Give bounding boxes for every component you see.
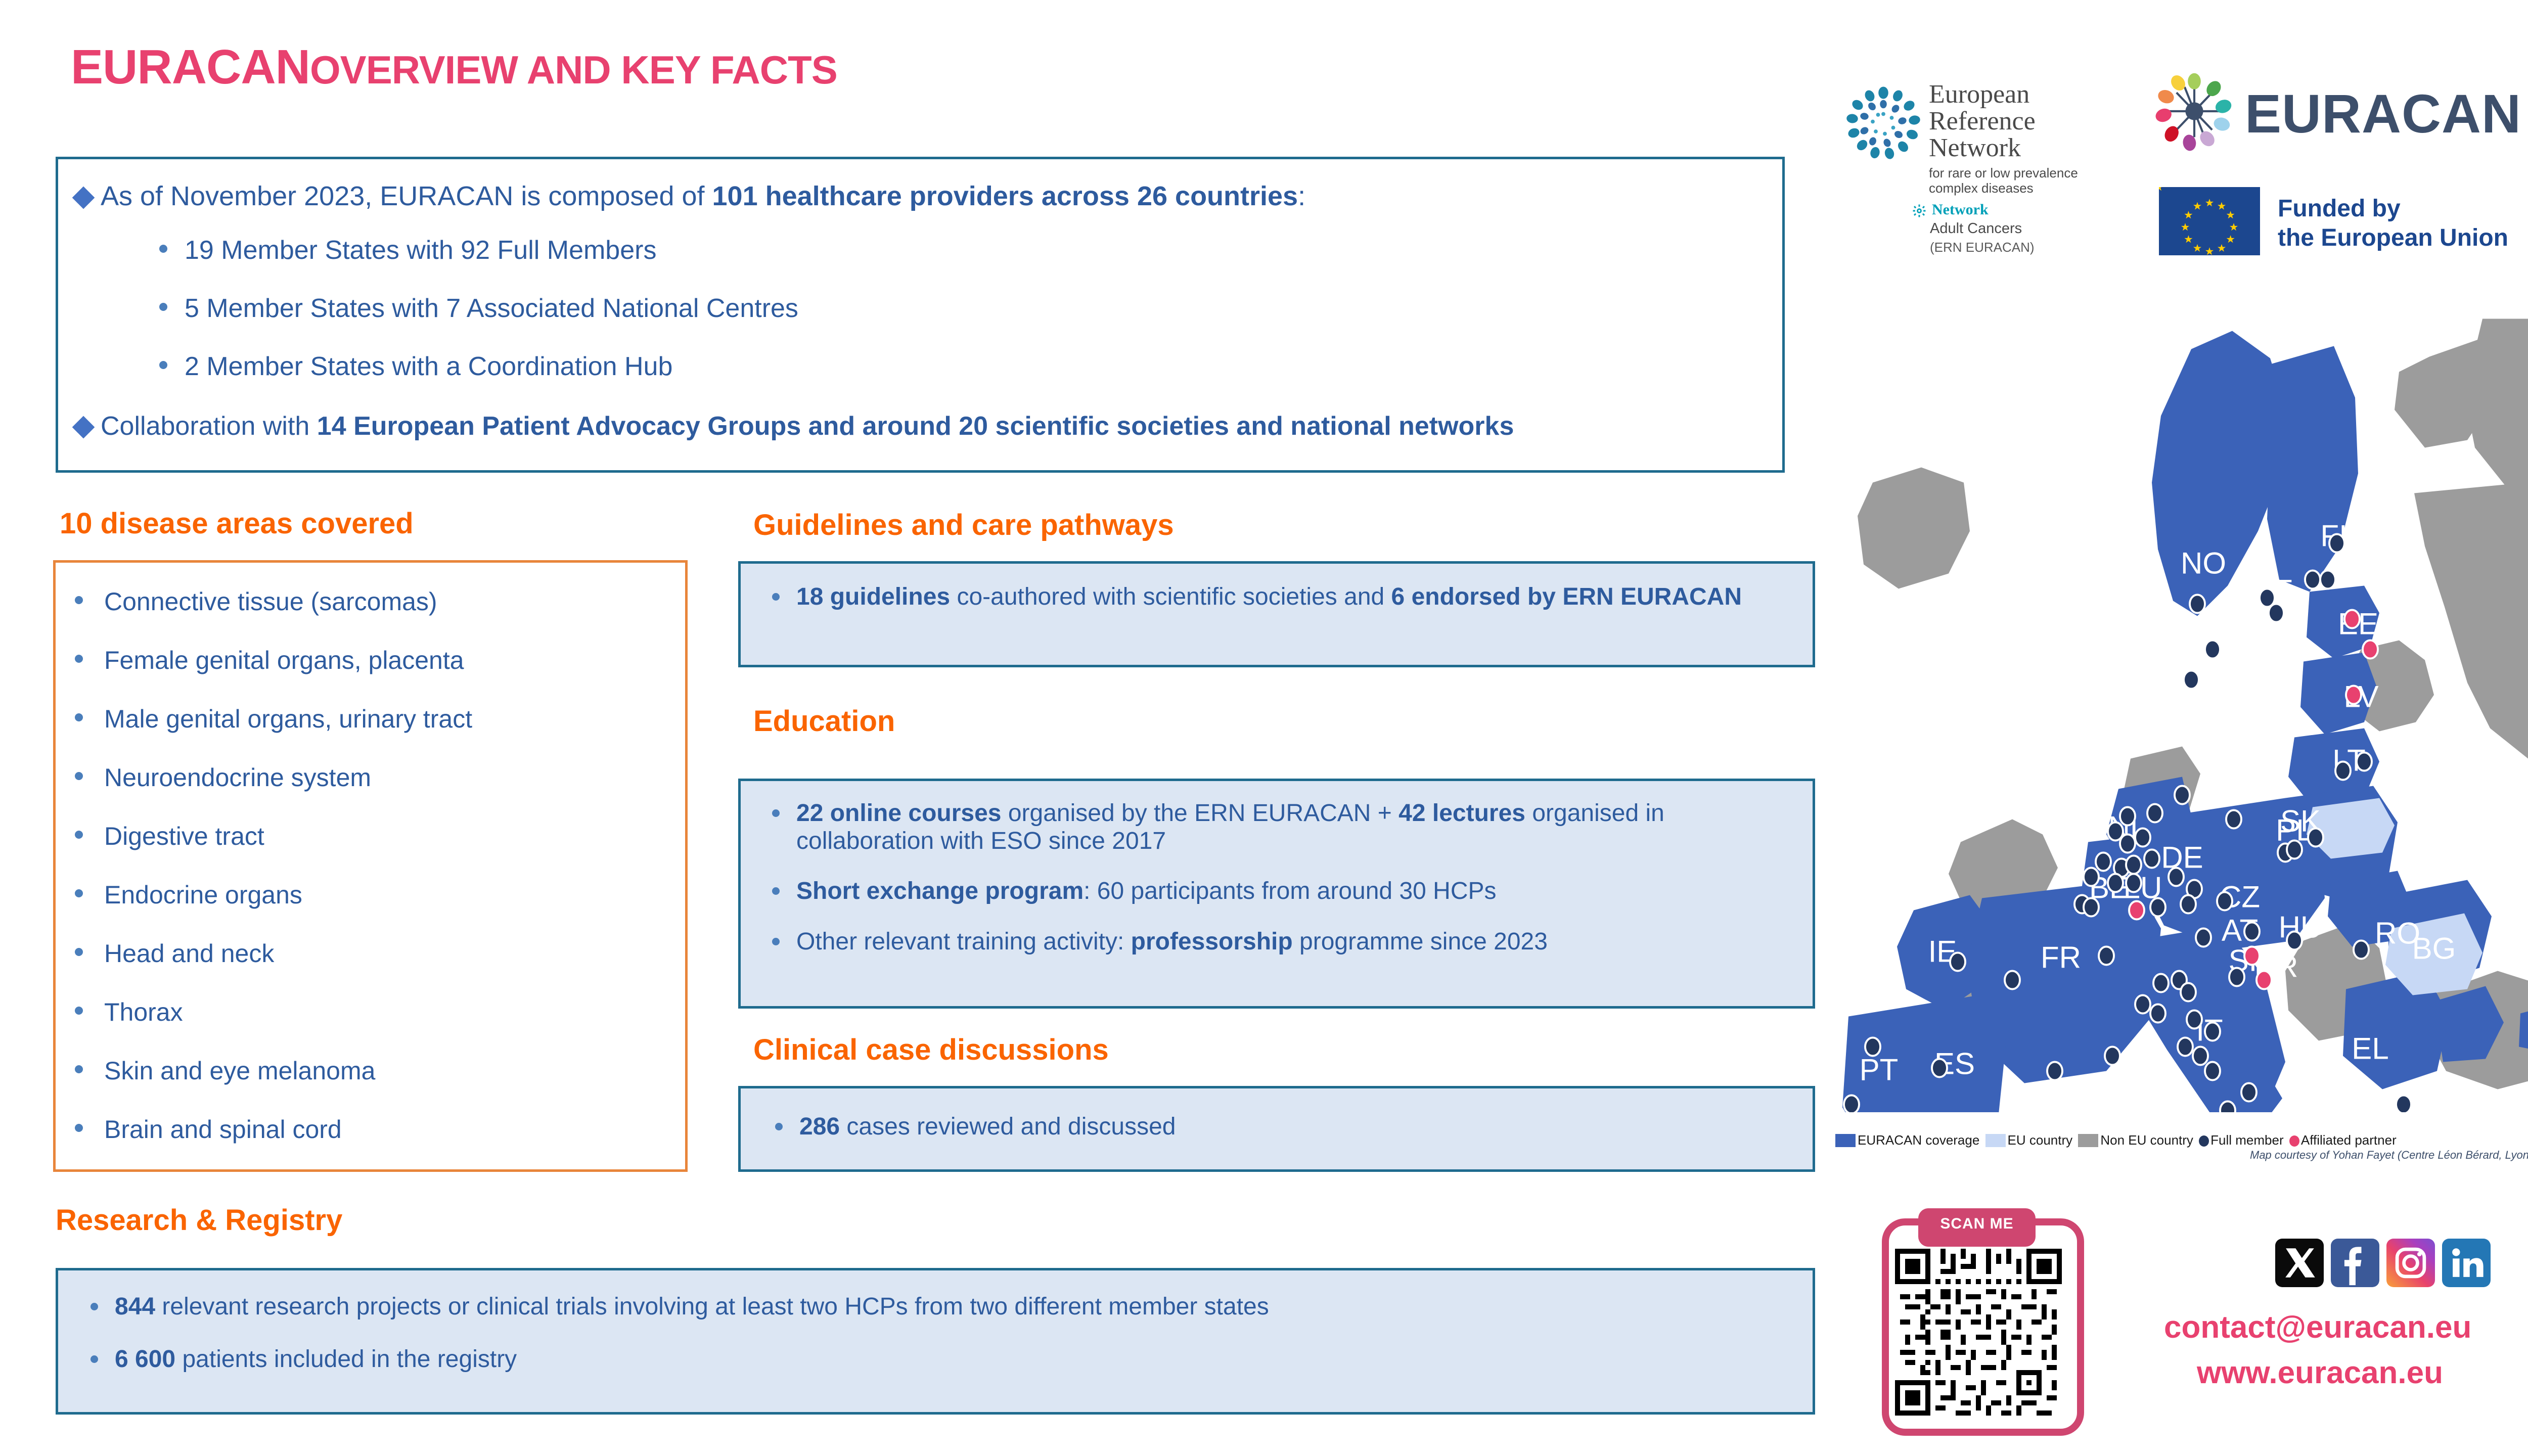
svg-text:BG: BG bbox=[2412, 932, 2456, 966]
bullet-dot-icon bbox=[75, 655, 83, 663]
summary-sub-item: 5 Member States with 7 Associated Nation… bbox=[159, 293, 798, 324]
education-bullet: 22 online courses organised by the ERN E… bbox=[796, 799, 1797, 855]
bullet-dot-icon bbox=[75, 831, 83, 839]
legend-swatch-non-eu-icon bbox=[2078, 1134, 2098, 1147]
eu-flag-icon bbox=[2159, 187, 2260, 255]
summary-line1-pre: As of November 2023, EURACAN is composed… bbox=[101, 181, 712, 211]
disease-item-label: Endocrine organs bbox=[104, 881, 302, 909]
europe-coverage-map: NO SE FI EE LV LT IE DK NL BE LU DE PL C… bbox=[1830, 303, 2528, 1112]
bullet-dot-icon bbox=[91, 1303, 98, 1310]
disease-item-label: Head and neck bbox=[104, 939, 274, 968]
logo-row: European Reference Network for rare or l… bbox=[1845, 71, 2528, 283]
bullet-dot-icon bbox=[775, 1123, 783, 1130]
bullet-dot-icon bbox=[159, 245, 167, 253]
ern-name-line-2: Reference bbox=[1929, 108, 2036, 134]
bullet-dot-icon bbox=[772, 809, 780, 817]
education-text-2: programme since 2023 bbox=[1293, 928, 1548, 955]
section-heading-education: Education bbox=[753, 704, 895, 738]
europe-map-svg: NO SE FI EE LV LT IE DK NL BE LU DE PL C… bbox=[1830, 303, 2528, 1112]
euracan-flower-icon bbox=[2154, 71, 2235, 152]
research-text-2: patients included in the registry bbox=[175, 1346, 517, 1373]
eu-funded-text: Funded by the European Union bbox=[2278, 194, 2508, 252]
summary-line1-post: : bbox=[1298, 181, 1305, 211]
svg-text:EL: EL bbox=[2352, 1032, 2388, 1066]
section-heading-clinical-case-discussions: Clinical case discussions bbox=[753, 1033, 1109, 1067]
disease-item-label: Male genital organs, urinary tract bbox=[104, 705, 472, 733]
section-heading-disease-areas: 10 disease areas covered bbox=[60, 507, 414, 540]
ern-logo-subtitle: for rare or low prevalence complex disea… bbox=[1929, 166, 2078, 196]
ern-sub-line-1: for rare or low prevalence bbox=[1929, 166, 2078, 181]
disease-list-item: Digestive tract bbox=[75, 822, 264, 851]
ern-network-label: Network bbox=[1932, 201, 1989, 218]
page-title-lead: EURACAN bbox=[71, 40, 310, 94]
eu-funded-line-2: the European Union bbox=[2278, 223, 2508, 253]
legend-label-eu-country: EU country bbox=[2008, 1132, 2073, 1148]
research-bold-1: 844 bbox=[115, 1293, 155, 1320]
education-bold-1: 22 online courses bbox=[796, 800, 1002, 827]
bullet-dot-icon bbox=[159, 361, 167, 369]
disease-item-label: Thorax bbox=[104, 998, 183, 1026]
legend-circle-full-member-icon bbox=[2199, 1135, 2209, 1147]
euracan-logo: EURACAN bbox=[2154, 71, 2528, 157]
gear-icon bbox=[1913, 204, 1926, 217]
euracan-wordmark: EURACAN bbox=[2245, 82, 2521, 145]
ern-name-line-1: European bbox=[1929, 81, 2036, 108]
disease-list-item: Skin and eye melanoma bbox=[75, 1056, 375, 1085]
legend-item-full-member: Full member bbox=[2199, 1132, 2283, 1148]
section-heading-research-registry: Research & Registry bbox=[56, 1203, 342, 1237]
disease-item-label: Brain and spinal cord bbox=[104, 1115, 342, 1144]
svg-text:PT: PT bbox=[1860, 1053, 1899, 1087]
research-bullet: 6 600 patients included in the registry bbox=[115, 1345, 1783, 1373]
ern-network-line-3: (ERN EURACAN) bbox=[1930, 240, 2035, 255]
disease-list-item: Thorax bbox=[75, 997, 183, 1027]
legend-item-eu-country: EU country bbox=[1985, 1132, 2073, 1148]
education-text-1: Other relevant training activity: bbox=[796, 928, 1131, 955]
education-text-1: organised by the ERN EURACAN + bbox=[1002, 800, 1399, 827]
disease-item-label: Skin and eye melanoma bbox=[104, 1057, 375, 1085]
diamond-bullet-icon bbox=[73, 417, 96, 437]
qr-code-icon[interactable] bbox=[1895, 1249, 2062, 1416]
x-icon[interactable] bbox=[2275, 1239, 2324, 1287]
summary-sub-item: 2 Member States with a Coordination Hub bbox=[159, 351, 672, 382]
summary-sub-item: 19 Member States with 92 Full Members bbox=[159, 235, 656, 265]
clinical-text-1: cases reviewed and discussed bbox=[840, 1113, 1176, 1140]
guidelines-bullet: 18 guidelines co-authored with scientifi… bbox=[796, 583, 1787, 611]
ern-dot-circle-icon bbox=[1845, 86, 1921, 162]
bullet-dot-icon bbox=[772, 887, 780, 895]
clinical-bullet: 286 cases reviewed and discussed bbox=[799, 1113, 1790, 1141]
svg-text:FR: FR bbox=[2041, 941, 2081, 975]
disease-list-item: Neuroendocrine system bbox=[75, 763, 371, 792]
eu-funded-line-1: Funded by bbox=[2278, 194, 2508, 223]
contact-email[interactable]: contact@euracan.eu bbox=[2164, 1309, 2471, 1345]
linkedin-icon[interactable] bbox=[2442, 1239, 2491, 1287]
disease-item-label: Neuroendocrine system bbox=[104, 763, 371, 792]
bullet-dot-icon bbox=[772, 593, 780, 601]
summary-sub-item-label: 2 Member States with a Coordination Hub bbox=[185, 352, 672, 381]
qr-scan-me-label: SCAN ME bbox=[1918, 1208, 2036, 1247]
facebook-icon[interactable] bbox=[2331, 1239, 2379, 1287]
bullet-dot-icon bbox=[75, 1007, 83, 1015]
bullet-dot-icon bbox=[75, 1065, 83, 1073]
ern-logo-name: European Reference Network bbox=[1929, 81, 2036, 161]
summary-sub-item-label: 19 Member States with 92 Full Members bbox=[185, 236, 656, 265]
bullet-dot-icon bbox=[75, 889, 83, 897]
bullet-dot-icon bbox=[75, 596, 83, 604]
svg-text:NO: NO bbox=[2181, 547, 2226, 580]
bullet-dot-icon bbox=[91, 1355, 98, 1363]
poster-root: EURACANOVERVIEW AND KEY FACTS As of Nove… bbox=[0, 0, 2528, 1456]
ern-logo: European Reference Network for rare or l… bbox=[1845, 81, 2129, 248]
contact-website[interactable]: www.euracan.eu bbox=[2197, 1355, 2443, 1391]
legend-item-affiliated: Affiliated partner bbox=[2289, 1132, 2397, 1148]
bullet-dot-icon bbox=[75, 713, 83, 721]
legend-swatch-eu-country-icon bbox=[1985, 1134, 2006, 1147]
disease-item-label: Digestive tract bbox=[104, 822, 264, 850]
research-bold-2: 6 600 bbox=[115, 1346, 175, 1373]
disease-list-item: Female genital organs, placenta bbox=[75, 646, 464, 675]
disease-item-label: Connective tissue (sarcomas) bbox=[104, 587, 437, 616]
ern-sub-line-2: complex diseases bbox=[1929, 181, 2078, 196]
svg-text:MT: MT bbox=[2254, 1111, 2298, 1113]
ern-name-line-3: Network bbox=[1929, 134, 2036, 161]
legend-label-coverage: EURACAN coverage bbox=[1858, 1132, 1979, 1148]
summary-line-1: As of November 2023, EURACAN is composed… bbox=[73, 180, 1305, 212]
instagram-icon[interactable] bbox=[2386, 1239, 2435, 1287]
disease-list-item: Male genital organs, urinary tract bbox=[75, 704, 472, 734]
bullet-dot-icon bbox=[75, 948, 83, 956]
guidelines-box: 18 guidelines co-authored with scientifi… bbox=[738, 561, 1815, 667]
diamond-bullet-icon bbox=[73, 187, 96, 207]
disease-list-item: Brain and spinal cord bbox=[75, 1115, 342, 1144]
bullet-dot-icon bbox=[772, 938, 780, 945]
research-registry-box: 844 relevant research projects or clinic… bbox=[56, 1268, 1815, 1415]
summary-line1-bold: 101 healthcare providers across 26 count… bbox=[712, 181, 1298, 211]
legend-circle-affiliated-icon bbox=[2289, 1135, 2299, 1147]
legend-item-non-eu: Non EU country bbox=[2078, 1132, 2193, 1148]
page-title-rest: OVERVIEW AND KEY FACTS bbox=[310, 48, 837, 92]
social-links-row bbox=[2275, 1239, 2503, 1294]
research-bullet: 844 relevant research projects or clinic… bbox=[115, 1293, 1783, 1321]
education-bold-2: 42 lectures bbox=[1398, 800, 1525, 827]
legend-swatch-coverage-icon bbox=[1835, 1134, 1856, 1147]
bullet-dot-icon bbox=[159, 303, 167, 311]
summary-line2-bold: 14 European Patient Advocacy Groups and … bbox=[317, 412, 1514, 441]
education-box: 22 online courses organised by the ERN E… bbox=[738, 779, 1815, 1009]
summary-sub-item-label: 5 Member States with 7 Associated Nation… bbox=[185, 294, 798, 323]
legend-label-affiliated: Affiliated partner bbox=[2301, 1132, 2397, 1148]
education-text-1: : 60 participants from around 30 HCPs bbox=[1084, 878, 1496, 904]
ern-network-line-2: Adult Cancers bbox=[1930, 220, 2022, 237]
map-credit: Map courtesy of Yohan Fayet (Centre Léon… bbox=[2250, 1149, 2528, 1162]
guidelines-text-1: co-authored with scientific societies an… bbox=[950, 583, 1391, 610]
summary-line2-pre: Collaboration with bbox=[101, 412, 317, 441]
eu-funded-logo: Funded by the European Union bbox=[2159, 187, 2528, 258]
disease-list-item: Connective tissue (sarcomas) bbox=[75, 587, 437, 616]
bullet-dot-icon bbox=[75, 1124, 83, 1132]
education-bold-1: Short exchange program bbox=[796, 878, 1084, 904]
page-title: EURACANOVERVIEW AND KEY FACTS bbox=[71, 39, 837, 95]
disease-list-item: Head and neck bbox=[75, 939, 274, 968]
education-bullet: Short exchange program: 60 participants … bbox=[796, 877, 1797, 905]
summary-line-2: Collaboration with 14 European Patient A… bbox=[73, 411, 1514, 441]
svg-text:DE: DE bbox=[2161, 841, 2203, 875]
summary-box: As of November 2023, EURACAN is composed… bbox=[56, 157, 1785, 473]
bullet-dot-icon bbox=[75, 772, 83, 780]
disease-areas-box: Connective tissue (sarcomas) Female geni… bbox=[53, 560, 688, 1172]
clinical-bold-1: 286 bbox=[799, 1113, 840, 1140]
research-text-1: relevant research projects or clinical t… bbox=[155, 1293, 1269, 1320]
guidelines-bold-2: 6 endorsed by ERN EURACAN bbox=[1391, 583, 1742, 610]
section-heading-guidelines: Guidelines and care pathways bbox=[753, 508, 1174, 542]
disease-item-label: Female genital organs, placenta bbox=[104, 646, 464, 674]
legend-item-coverage: EURACAN coverage bbox=[1835, 1132, 1979, 1148]
disease-list-item: Endocrine organs bbox=[75, 880, 302, 909]
qr-code-block[interactable]: SCAN ME bbox=[1882, 1208, 2084, 1436]
legend-label-full-member: Full member bbox=[2210, 1132, 2283, 1148]
guidelines-bold-1: 18 guidelines bbox=[796, 583, 950, 610]
education-bullet: Other relevant training activity: profes… bbox=[796, 928, 1802, 955]
education-bold-2: professorship bbox=[1131, 928, 1293, 955]
legend-label-non-eu: Non EU country bbox=[2100, 1132, 2193, 1148]
clinical-case-box: 286 cases reviewed and discussed bbox=[738, 1086, 1815, 1172]
